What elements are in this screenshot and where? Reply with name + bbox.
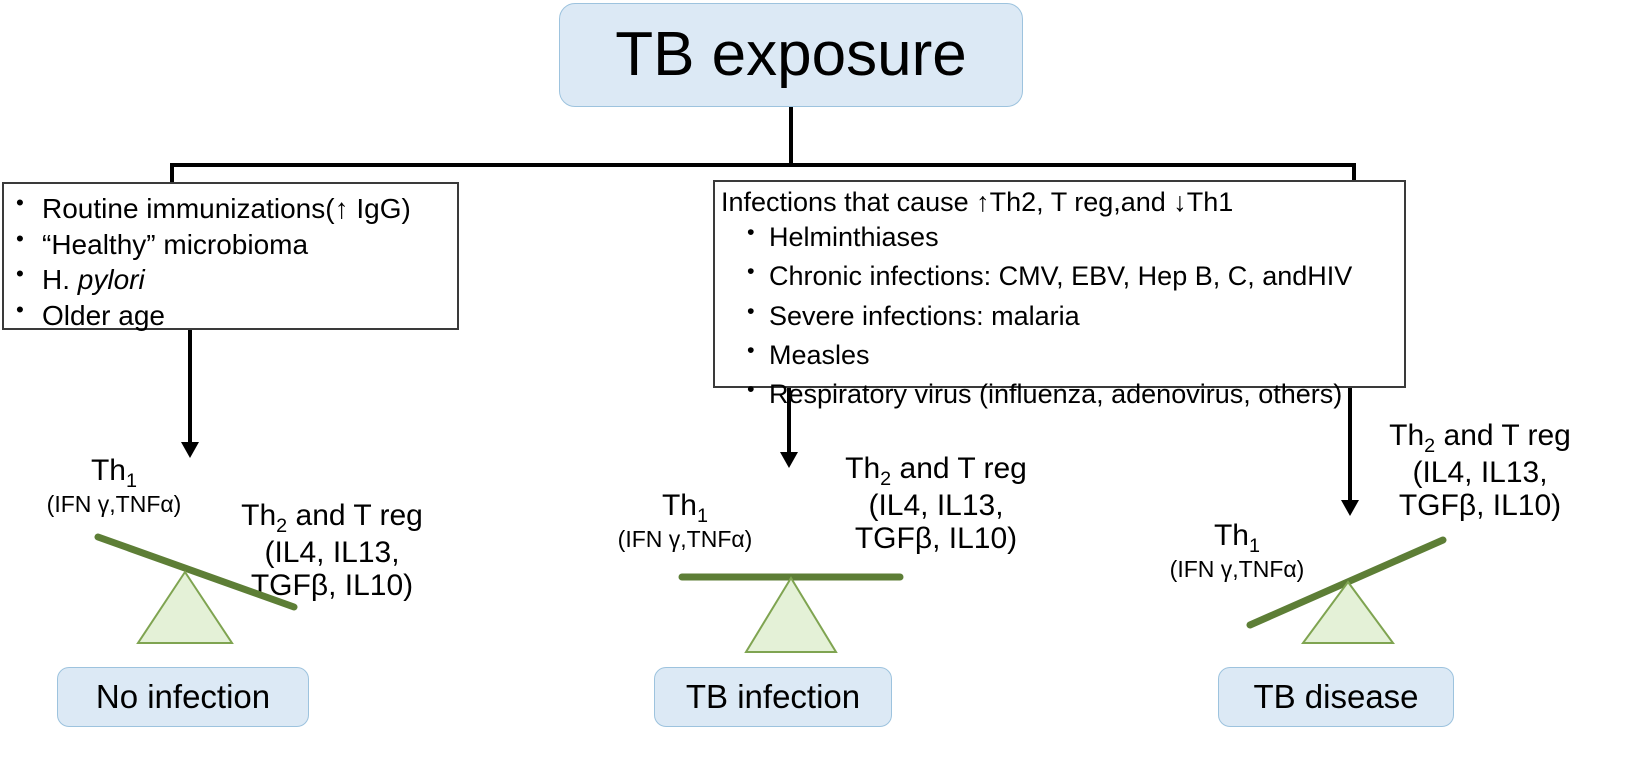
scale-3-th2-label: Th2 and T reg (IL4, IL13, TGFβ, IL10) xyxy=(1380,420,1580,522)
arrow-down-middle xyxy=(787,388,791,468)
protective-factors-list: Routine immunizations(↑ IgG) “Healthy” m… xyxy=(4,191,457,333)
list-item: H. pylori xyxy=(4,262,457,298)
risk-infections-list: Helminthiases Chronic infections: CMV, E… xyxy=(715,218,1404,414)
outcome-label: TB disease xyxy=(1253,680,1418,715)
scale-2-balance xyxy=(678,570,908,660)
scale-2-th1-label: Th1 (IFN γ,TNFα) xyxy=(600,490,770,552)
list-item: Routine immunizations(↑ IgG) xyxy=(4,191,457,227)
scale-2-fulcrum xyxy=(746,578,836,652)
connector-trunk-vertical xyxy=(789,107,793,167)
outcome-label: TB infection xyxy=(686,680,860,715)
outcome-tb-infection[interactable]: TB infection xyxy=(654,667,892,727)
scale-3-balance xyxy=(1243,525,1458,645)
risk-infections-box: Infections that cause ↑Th2, T reg,and ↓T… xyxy=(713,180,1406,388)
list-item: Respiratory virus (influenza, adenovirus… xyxy=(741,375,1404,414)
scale-1-balance xyxy=(90,525,320,645)
tb-exposure-label: TB exposure xyxy=(615,22,967,87)
outcome-label: No infection xyxy=(96,680,270,715)
connector-horizontal-bus xyxy=(170,163,1356,167)
h-pylori-species: pylori xyxy=(78,264,145,295)
list-item: Older age xyxy=(4,298,457,334)
list-item: Severe infections: malaria xyxy=(741,297,1404,336)
outcome-tb-disease[interactable]: TB disease xyxy=(1218,667,1454,727)
tb-exposure-node[interactable]: TB exposure xyxy=(559,3,1023,107)
arrow-down-left xyxy=(188,330,192,458)
protective-factors-box: Routine immunizations(↑ IgG) “Healthy” m… xyxy=(2,182,459,330)
scale-1-th1-label: Th1 (IFN γ,TNFα) xyxy=(34,455,194,517)
risk-box-heading: Infections that cause ↑Th2, T reg,and ↓T… xyxy=(715,182,1404,218)
arrow-down-right xyxy=(1348,388,1352,516)
h-pylori-prefix: H. xyxy=(42,264,78,295)
list-item: Measles xyxy=(741,336,1404,375)
scale-3-fulcrum xyxy=(1303,582,1393,643)
list-item: Helminthiases xyxy=(741,218,1404,257)
list-item: Chronic infections: CMV, EBV, Hep B, C, … xyxy=(741,257,1404,296)
outcome-no-infection[interactable]: No infection xyxy=(57,667,309,727)
connector-branch-left xyxy=(170,163,174,184)
scale-2-th2-label: Th2 and T reg (IL4, IL13, TGFβ, IL10) xyxy=(836,453,1036,555)
diagram-canvas: TB exposure Routine immunizations(↑ IgG)… xyxy=(0,0,1629,761)
list-item: “Healthy” microbioma xyxy=(4,227,457,263)
